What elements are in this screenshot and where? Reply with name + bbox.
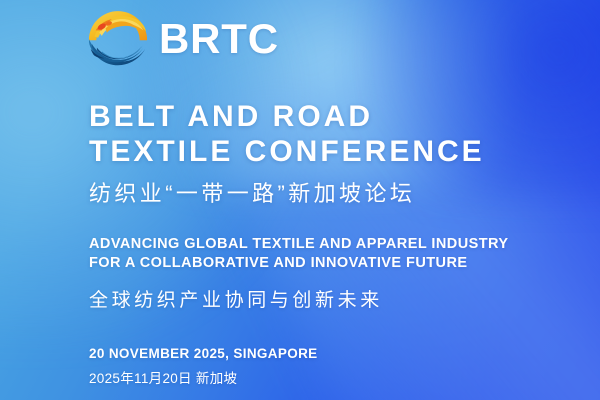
brand-lockup: BRTC bbox=[87, 8, 279, 70]
brand-wordmark: BRTC bbox=[159, 18, 279, 60]
page-title: BELT AND ROAD TEXTILE CONFERENCE bbox=[89, 99, 485, 169]
event-date-english: 20 NOVEMBER 2025, SINGAPORE bbox=[89, 345, 318, 363]
poster-content: BRTC BELT AND ROAD TEXTILE CONFERENCE 纺织… bbox=[0, 0, 600, 400]
headline-line-2: TEXTILE CONFERENCE bbox=[89, 134, 485, 169]
tagline-block: ADVANCING GLOBAL TEXTILE AND APPAREL IND… bbox=[89, 235, 509, 273]
event-details: 20 NOVEMBER 2025, SINGAPORE 2025年11月20日 … bbox=[89, 345, 318, 388]
event-date-chinese: 2025年11月20日 新加坡 bbox=[89, 370, 318, 388]
headline-line-1: BELT AND ROAD bbox=[89, 99, 485, 134]
headline-chinese: 纺织业“一带一路”新加坡论坛 bbox=[89, 180, 415, 208]
conference-poster: BRTC BELT AND ROAD TEXTILE CONFERENCE 纺织… bbox=[0, 0, 600, 400]
tagline-chinese: 全球纺织产业协同与创新未来 bbox=[89, 288, 383, 313]
tagline-line-1: ADVANCING GLOBAL TEXTILE AND APPAREL IND… bbox=[89, 235, 509, 254]
brtc-logo-icon bbox=[87, 8, 149, 70]
tagline-line-2: FOR A COLLABORATIVE AND INNOVATIVE FUTUR… bbox=[89, 254, 509, 273]
